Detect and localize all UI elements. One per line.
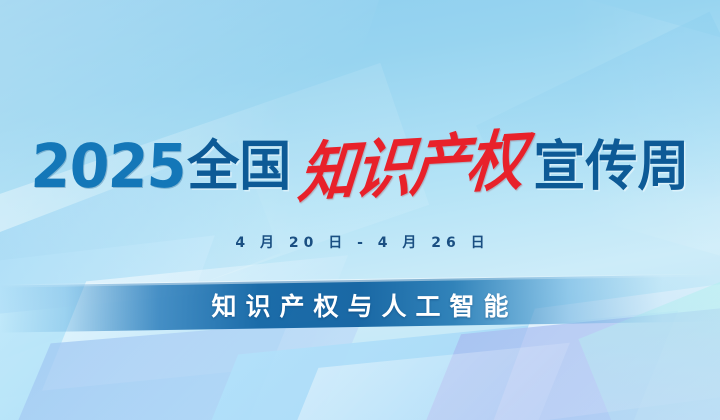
decorative-parallelogram-2 — [0, 317, 363, 420]
title-highlight: 知识产权 — [296, 127, 526, 206]
title-suffix: 宣传周 — [533, 140, 689, 194]
title-nation: 全国 — [187, 140, 291, 194]
banner-subtitle: 知识产权与人工智能 — [0, 285, 720, 325]
banner-title: 2025 全国 知识产权 宣传周 — [0, 126, 720, 208]
ip-week-banner: 2025 全国 知识产权 宣传周 4 月 20 日 - 4 月 26 日 知识产… — [0, 0, 720, 420]
date-range: 4 月 20 日 - 4 月 26 日 — [0, 232, 720, 252]
decorative-parallelogram-9 — [270, 343, 570, 420]
title-year: 2025 — [29, 137, 187, 197]
decorative-band-middle — [0, 63, 429, 387]
background-decoration — [0, 0, 720, 420]
